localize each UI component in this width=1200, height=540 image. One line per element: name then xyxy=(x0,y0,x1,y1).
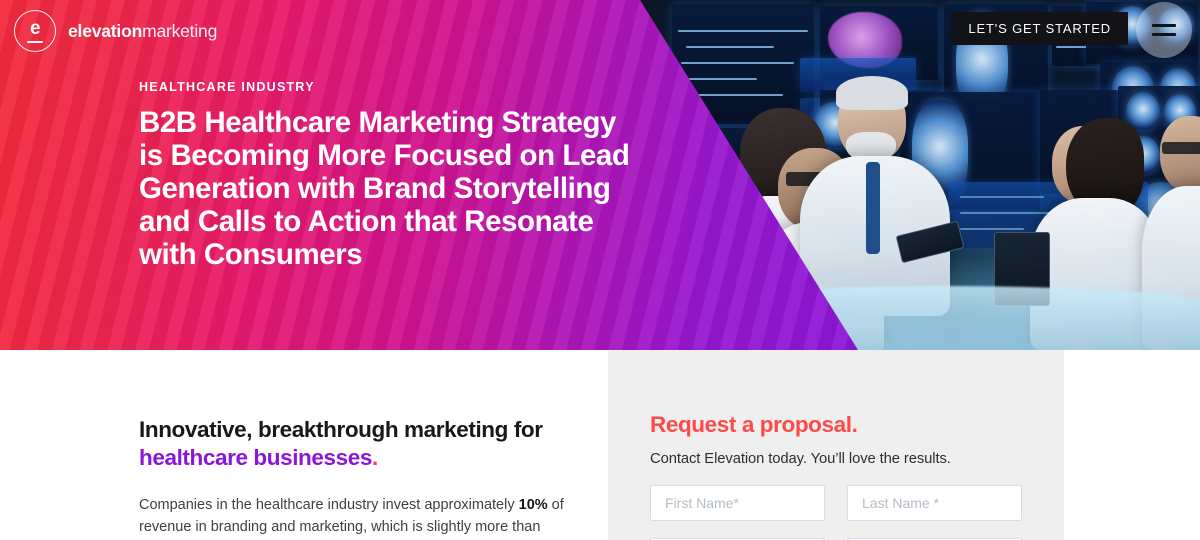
brand-name-bold: elevation xyxy=(68,21,142,41)
lets-get-started-button[interactable]: LET'S GET STARTED xyxy=(951,12,1128,45)
form-subtitle: Contact Elevation today. You’ll love the… xyxy=(650,451,1022,467)
intro-stat: 10% xyxy=(519,497,548,513)
form-row-names xyxy=(650,485,1022,521)
menu-bar-bottom xyxy=(1152,33,1176,36)
form-title: Request a proposal. xyxy=(650,412,1022,438)
logo-circle-icon: e xyxy=(14,10,56,52)
last-name-input[interactable] xyxy=(847,485,1022,521)
content-section: Innovative, breakthrough marketing for h… xyxy=(0,350,1200,540)
page-root: e elevationmarketing LET'S GET STARTED H… xyxy=(0,0,1200,540)
brand-name-light: marketing xyxy=(142,21,217,41)
section-heading: Innovative, breakthrough marketing for h… xyxy=(139,416,569,472)
intro-paragraph: Companies in the healthcare industry inv… xyxy=(139,494,569,540)
proposal-form-panel: Request a proposal. Contact Elevation to… xyxy=(608,350,1064,540)
hero-copy-block: HEALTHCARE INDUSTRY B2B Healthcare Marke… xyxy=(139,80,639,271)
section-heading-period: . xyxy=(372,445,378,470)
hero-eyebrow: HEALTHCARE INDUSTRY xyxy=(139,80,639,94)
brand-logo[interactable]: e elevationmarketing xyxy=(14,10,217,52)
brand-wordmark: elevationmarketing xyxy=(68,21,217,42)
hamburger-menu-icon[interactable] xyxy=(1136,2,1192,58)
hero-section: e elevationmarketing LET'S GET STARTED H… xyxy=(0,0,1200,350)
intro-column: Innovative, breakthrough marketing for h… xyxy=(139,416,569,540)
section-heading-accent: healthcare businesses xyxy=(139,445,372,470)
intro-text-part1: Companies in the healthcare industry inv… xyxy=(139,497,519,513)
hero-headline: B2B Healthcare Marketing Strategy is Bec… xyxy=(139,106,639,271)
first-name-input[interactable] xyxy=(650,485,825,521)
logo-letter: e xyxy=(30,19,40,38)
menu-bar-top xyxy=(1152,24,1176,27)
logo-underline xyxy=(27,41,43,43)
section-heading-line1: Innovative, breakthrough marketing for xyxy=(139,417,543,442)
